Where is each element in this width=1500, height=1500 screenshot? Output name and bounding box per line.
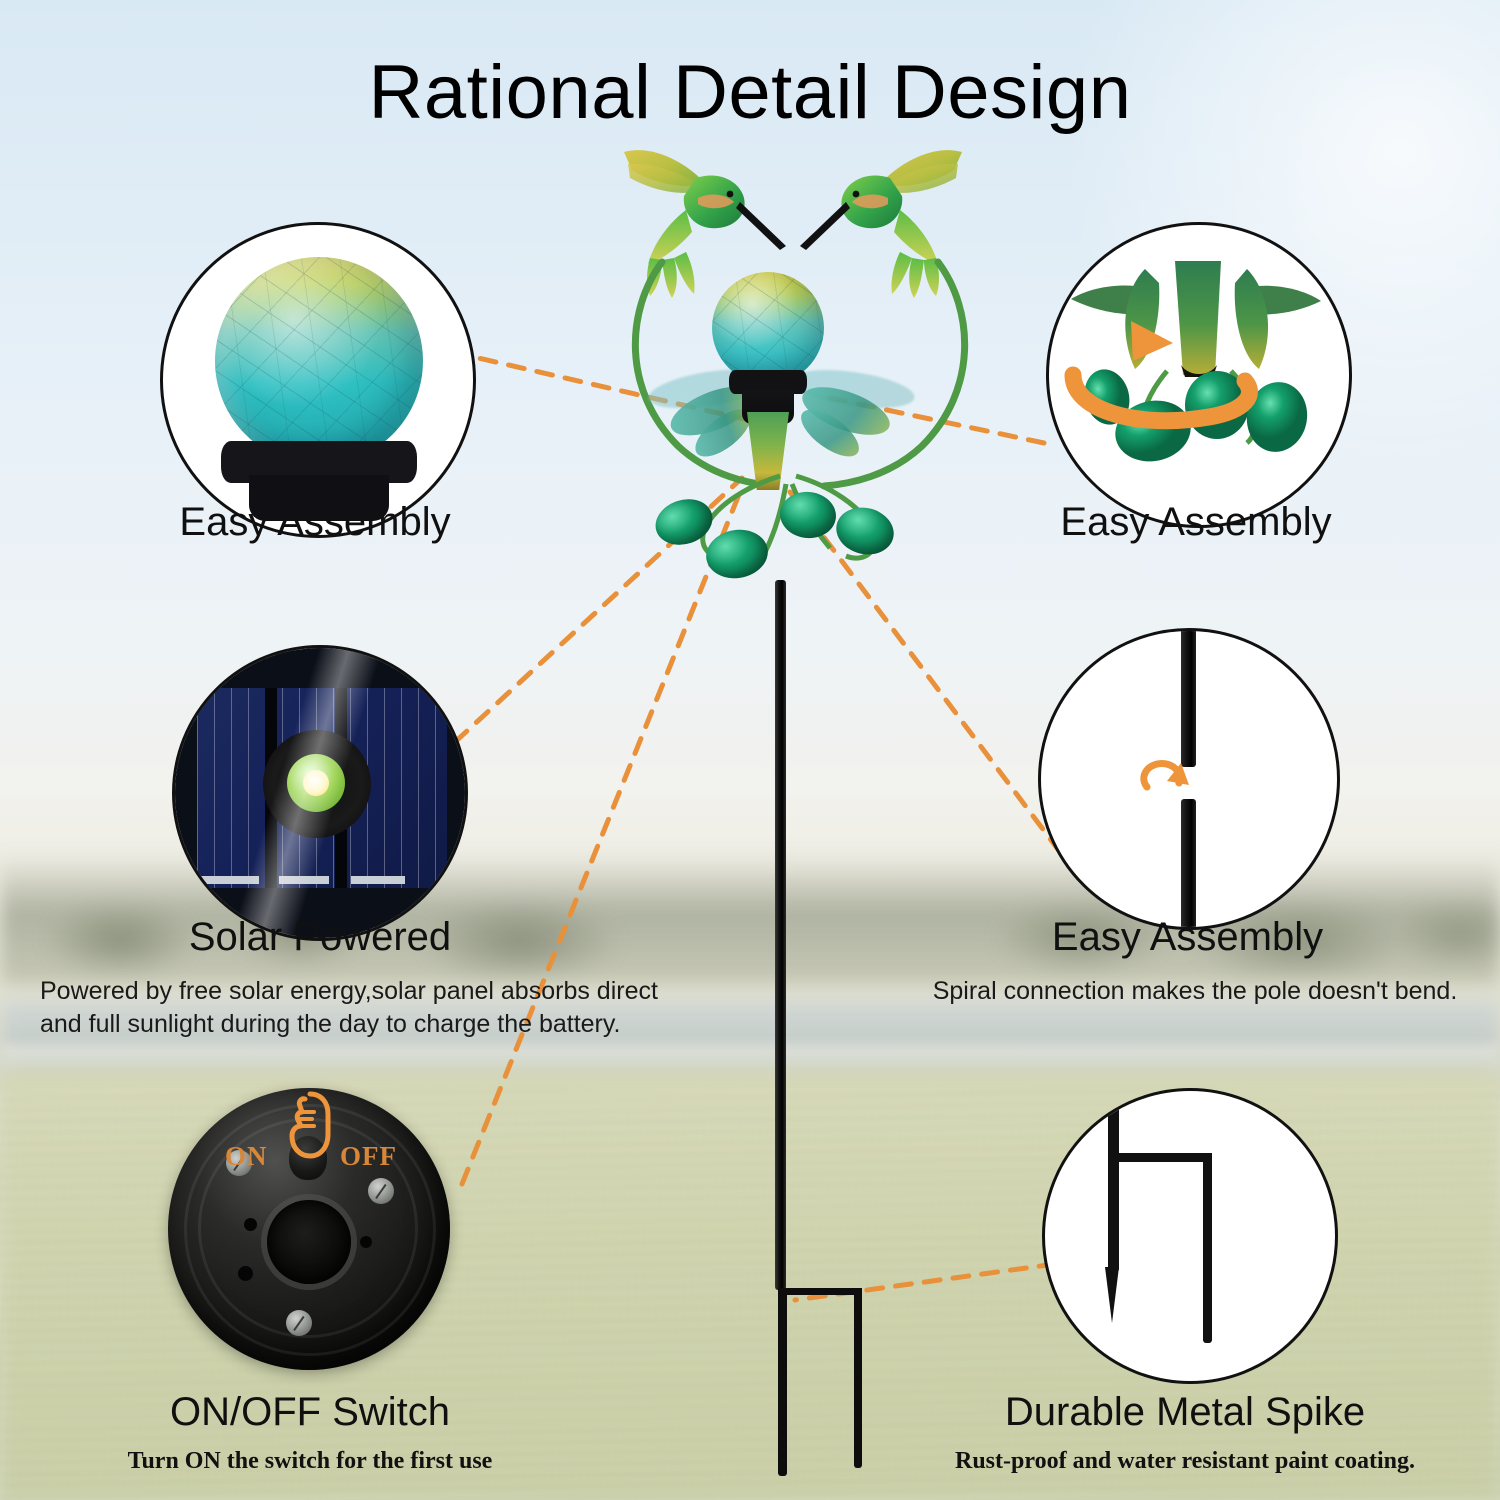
spiral-connection-icon xyxy=(1038,628,1340,930)
stake-prong-left xyxy=(778,1288,787,1476)
callout-caption: Easy Assembly xyxy=(1000,915,1375,960)
callout-subtitle: Turn ON the switch for the first use xyxy=(115,1448,505,1475)
rotate-arrow-icon xyxy=(1046,222,1352,528)
callout-caption: ON/OFF Switch xyxy=(115,1390,505,1435)
glass-globe-icon xyxy=(160,222,476,538)
callout-caption: Durable Metal Spike xyxy=(985,1390,1385,1435)
flower-art xyxy=(1049,225,1349,525)
ground-spike-icon xyxy=(1042,1088,1338,1384)
stake-prong-right xyxy=(854,1288,862,1468)
callout-subtitle: Powered by free solar energy,solar panel… xyxy=(40,975,660,1041)
callout-subtitle: Spiral connection makes the pole doesn't… xyxy=(930,975,1460,1008)
stake-crossbar xyxy=(779,1288,861,1295)
pointing-hand-icon xyxy=(280,1090,342,1162)
glass-globe xyxy=(712,272,824,384)
solar-panel-icon xyxy=(172,645,468,941)
switch-icon: ON OFF xyxy=(168,1088,450,1370)
switch-off-label: OFF xyxy=(340,1141,397,1172)
product-pole xyxy=(775,580,786,1290)
callout-subtitle: Rust-proof and water resistant paint coa… xyxy=(955,1448,1415,1475)
callout-caption: Easy Assembly xyxy=(130,500,500,545)
switch-on-label: ON xyxy=(225,1141,268,1172)
screw xyxy=(286,1310,312,1336)
rotate-icon xyxy=(1135,757,1201,809)
page-title: Rational Detail Design xyxy=(0,55,1500,131)
callout-caption: Solar Powered xyxy=(140,915,500,960)
callout-caption: Easy Assembly xyxy=(1011,500,1381,545)
infographic-canvas: Rational Detail Design xyxy=(0,0,1500,1500)
screw xyxy=(368,1178,394,1204)
pole-socket xyxy=(267,1200,351,1284)
